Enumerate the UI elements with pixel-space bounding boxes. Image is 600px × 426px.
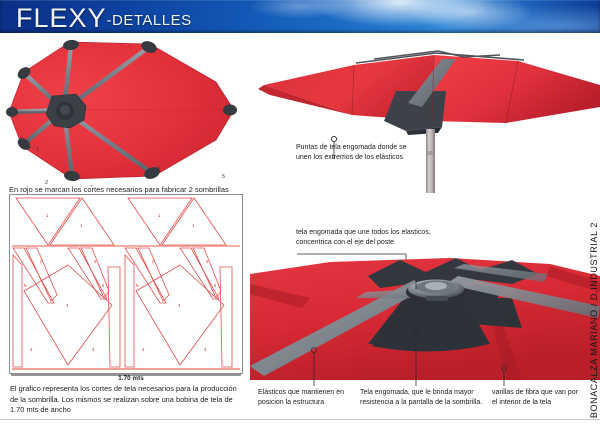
- panel-number: 4: [157, 166, 160, 172]
- piece-number: 1: [46, 213, 49, 218]
- author-credit: BONACALZA MARIANO / D.INDUSTRIAL 2: [589, 222, 599, 418]
- umbrella-top-view-image: 1 2 3 4 5: [2, 36, 254, 186]
- piece-number: 5: [24, 283, 27, 288]
- pattern-row-triangles: [16, 198, 226, 245]
- canopy-right: [432, 55, 600, 123]
- center-hub-metal: [406, 280, 466, 304]
- header-banner: FLEXY-DETALLES: [0, 0, 600, 33]
- pattern-note: El grafico representa los cortes de tela…: [10, 384, 242, 416]
- callout-varillas: varillas de fibra que van por el interio…: [492, 388, 584, 409]
- panel-number: 1: [36, 147, 39, 153]
- callout-engomada-eje: tela engomada que une todos los elastico…: [296, 228, 436, 249]
- pattern-row-diamonds: [13, 255, 232, 367]
- pole: [426, 129, 435, 193]
- hub-detail-image: [250, 258, 600, 380]
- piece-number: 1: [158, 213, 161, 218]
- piece-number: 1: [80, 223, 83, 228]
- piece-number: 3: [92, 347, 95, 352]
- title-main: FLEXY: [16, 3, 107, 33]
- piece-number: 3: [30, 347, 33, 352]
- pattern-caption: En rojo se marcan los cortes necesarios …: [9, 185, 245, 194]
- piece-number: 3: [142, 347, 145, 352]
- pole-joint: [427, 151, 434, 155]
- page-title: FLEXY-DETALLES: [16, 3, 192, 34]
- callout-puntas: Puntas de tela engomada donde se unen lo…: [296, 143, 418, 164]
- dimension-label: 1.70 mts: [92, 375, 170, 382]
- panel-number: 5: [222, 174, 225, 180]
- pattern-piece-numbers: 1 1 1 1 2 3 2 3 5 5 5 5 4 4 3 3 3 3: [24, 213, 217, 352]
- pattern-row-chevrons: [13, 248, 221, 303]
- piece-number: 3: [204, 347, 207, 352]
- umbrella-render-image: [256, 33, 600, 193]
- presentation-board: FLEXY-DETALLES: [0, 0, 600, 426]
- bottom-leader-lines: [250, 378, 600, 388]
- piece-number: 4: [66, 303, 69, 308]
- callout-tela-engomada: Tela engomada, que le brinda mayor resis…: [360, 388, 488, 409]
- piece-number: 5: [102, 283, 105, 288]
- callout-elasticos: Elásticos que mantienen en posicion la e…: [258, 388, 350, 409]
- cutting-pattern-diagram: 1 1 1 1 2 3 2 3 5 5 5 5 4 4 3 3 3 3: [9, 194, 243, 374]
- piece-number: 4: [178, 303, 181, 308]
- piece-number: 5: [214, 283, 217, 288]
- piece-number: 5: [136, 283, 139, 288]
- piece-number: 1: [192, 223, 195, 228]
- title-sub: -DETALLES: [107, 12, 192, 29]
- footer-divider: [0, 419, 600, 420]
